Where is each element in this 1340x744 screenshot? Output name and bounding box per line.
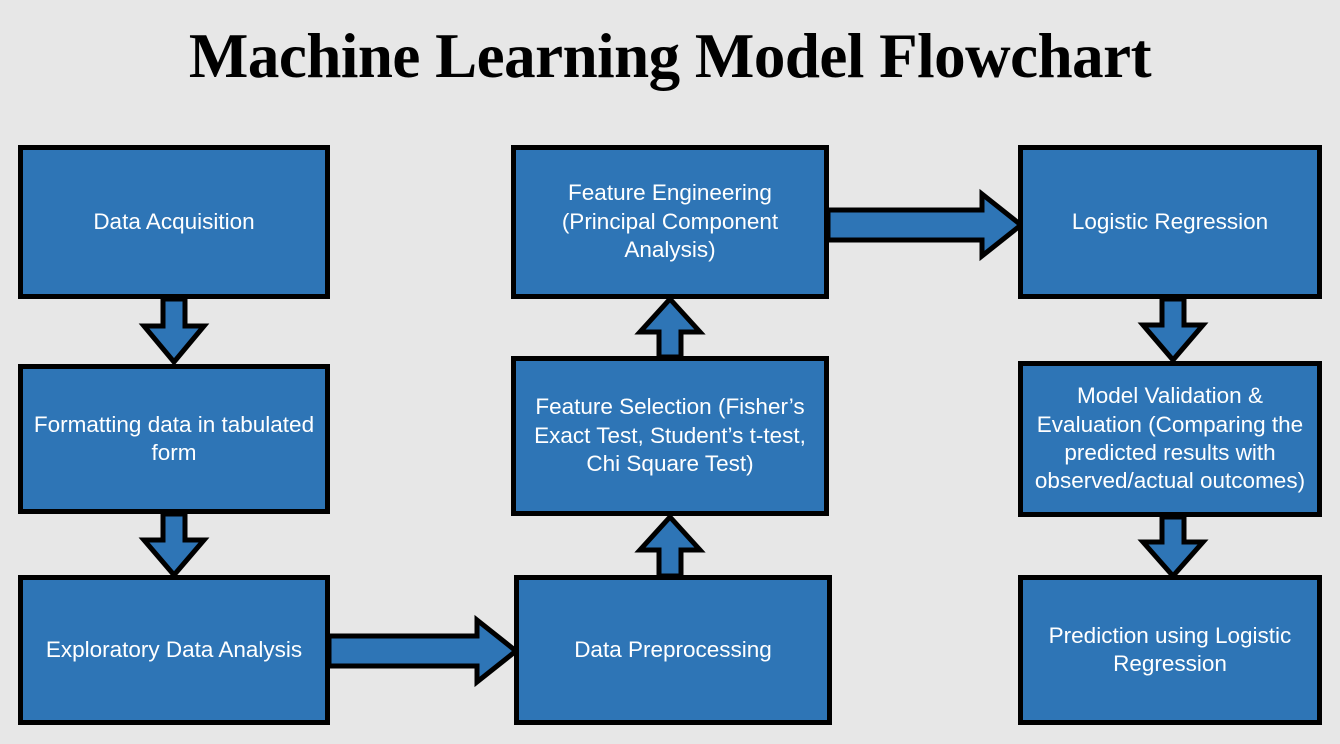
connector-exploratory-data-analysis-to-data-preprocessing (329, 617, 519, 685)
arrow-down-icon (1143, 299, 1203, 360)
connector-feature-selection-to-feature-engineering (636, 299, 704, 359)
arrow-up-icon (640, 517, 700, 576)
node-logistic-regression[interactable]: Logistic Regression (1018, 145, 1322, 299)
node-label: Data Preprocessing (525, 636, 821, 664)
connector-feature-engineering-to-logistic-regression (828, 191, 1024, 259)
node-formatting-data[interactable]: Formatting data in tabulated form (18, 364, 330, 514)
node-exploratory-data-analysis[interactable]: Exploratory Data Analysis (18, 575, 330, 725)
connector-formatting-data-to-exploratory-data-analysis (140, 514, 208, 578)
connector-logistic-regression-to-model-validation (1139, 299, 1207, 363)
node-data-acquisition[interactable]: Data Acquisition (18, 145, 330, 299)
node-data-preprocessing[interactable]: Data Preprocessing (514, 575, 832, 725)
arrow-down-icon (144, 299, 204, 362)
node-model-validation[interactable]: Model Validation & Evaluation (Comparing… (1018, 361, 1322, 517)
node-label: Feature Selection (Fisher’s Exact Test, … (522, 393, 818, 478)
arrow-up-icon (640, 299, 700, 357)
node-label: Formatting data in tabulated form (29, 411, 319, 468)
node-feature-selection[interactable]: Feature Selection (Fisher’s Exact Test, … (511, 356, 829, 516)
node-feature-engineering[interactable]: Feature Engineering (Principal Component… (511, 145, 829, 299)
connector-model-validation-to-prediction (1139, 517, 1207, 579)
node-label: Prediction using Logistic Regression (1029, 622, 1311, 679)
flowchart-canvas: Machine Learning Model Flowchart Data Ac… (0, 0, 1340, 744)
node-prediction[interactable]: Prediction using Logistic Regression (1018, 575, 1322, 725)
arrow-right-icon (828, 194, 1021, 256)
node-label: Exploratory Data Analysis (29, 636, 319, 664)
node-label: Data Acquisition (29, 208, 319, 236)
page-title: Machine Learning Model Flowchart (0, 20, 1340, 92)
node-label: Feature Engineering (Principal Component… (522, 179, 818, 264)
connector-data-preprocessing-to-feature-selection (636, 516, 704, 578)
node-label: Model Validation & Evaluation (Comparing… (1029, 382, 1311, 495)
arrow-down-icon (1143, 517, 1203, 576)
connector-data-acquisition-to-formatting-data (140, 299, 208, 365)
arrow-right-icon (329, 620, 516, 682)
arrow-down-icon (144, 514, 204, 575)
node-label: Logistic Regression (1029, 208, 1311, 236)
